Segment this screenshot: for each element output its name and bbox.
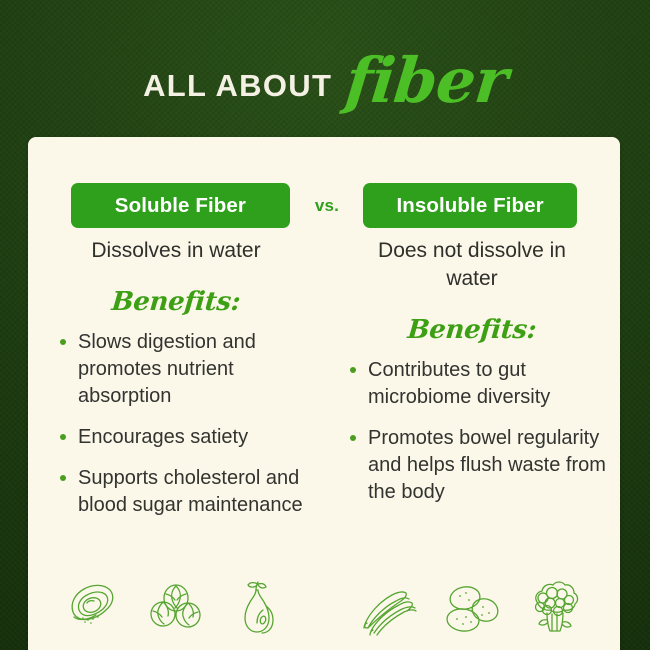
header-title-group: ALL ABOUT fiber [143,44,507,106]
comparison-columns: Dissolves in water Benefits: Slows diges… [28,237,620,533]
vs-label: vs. [315,196,339,216]
badge-row: Soluble Fiber vs. Insoluble Fiber [28,183,620,228]
content-card: Soluble Fiber vs. Insoluble Fiber Dissol… [28,137,620,650]
avocado-icon [61,576,127,642]
list-item: Contributes to gut microbiome diversity [348,357,610,411]
food-illustration-row [28,576,620,642]
subtitle-soluble: Dissolves in water [28,237,324,265]
benefits-heading-insoluble: Benefits: [323,315,622,345]
badge-soluble-fiber[interactable]: Soluble Fiber [71,183,290,228]
brussels-sprouts-icon [143,576,209,642]
column-insoluble-fiber: Does not dissolve in water Benefits: Con… [324,237,620,533]
badge-insoluble-fiber[interactable]: Insoluble Fiber [363,183,577,228]
potatoes-icon [439,576,505,642]
header: ALL ABOUT fiber [0,0,650,137]
benefits-list-insoluble: Contributes to gut microbiome diversity … [324,357,620,506]
page-title-script: fiber [343,50,510,112]
food-group-soluble [28,576,324,642]
list-item: Promotes bowel regularity and helps flus… [348,425,610,506]
list-item: Supports cholesterol and blood sugar mai… [58,465,310,519]
benefits-heading-soluble: Benefits: [27,287,326,317]
broccoli-icon [521,576,587,642]
column-soluble-fiber: Dissolves in water Benefits: Slows diges… [28,237,324,533]
green-beans-icon [357,576,423,642]
list-item: Slows digestion and promotes nutrient ab… [58,329,310,410]
page-title-primary: ALL ABOUT [143,70,332,101]
list-item: Encourages satiety [58,424,310,451]
pear-icon [225,576,291,642]
infographic-root: ALL ABOUT fiber Soluble Fiber vs. Insolu… [0,0,650,650]
subtitle-insoluble: Does not dissolve in water [324,237,620,293]
benefits-list-soluble: Slows digestion and promotes nutrient ab… [28,329,324,519]
food-group-insoluble [324,576,620,642]
